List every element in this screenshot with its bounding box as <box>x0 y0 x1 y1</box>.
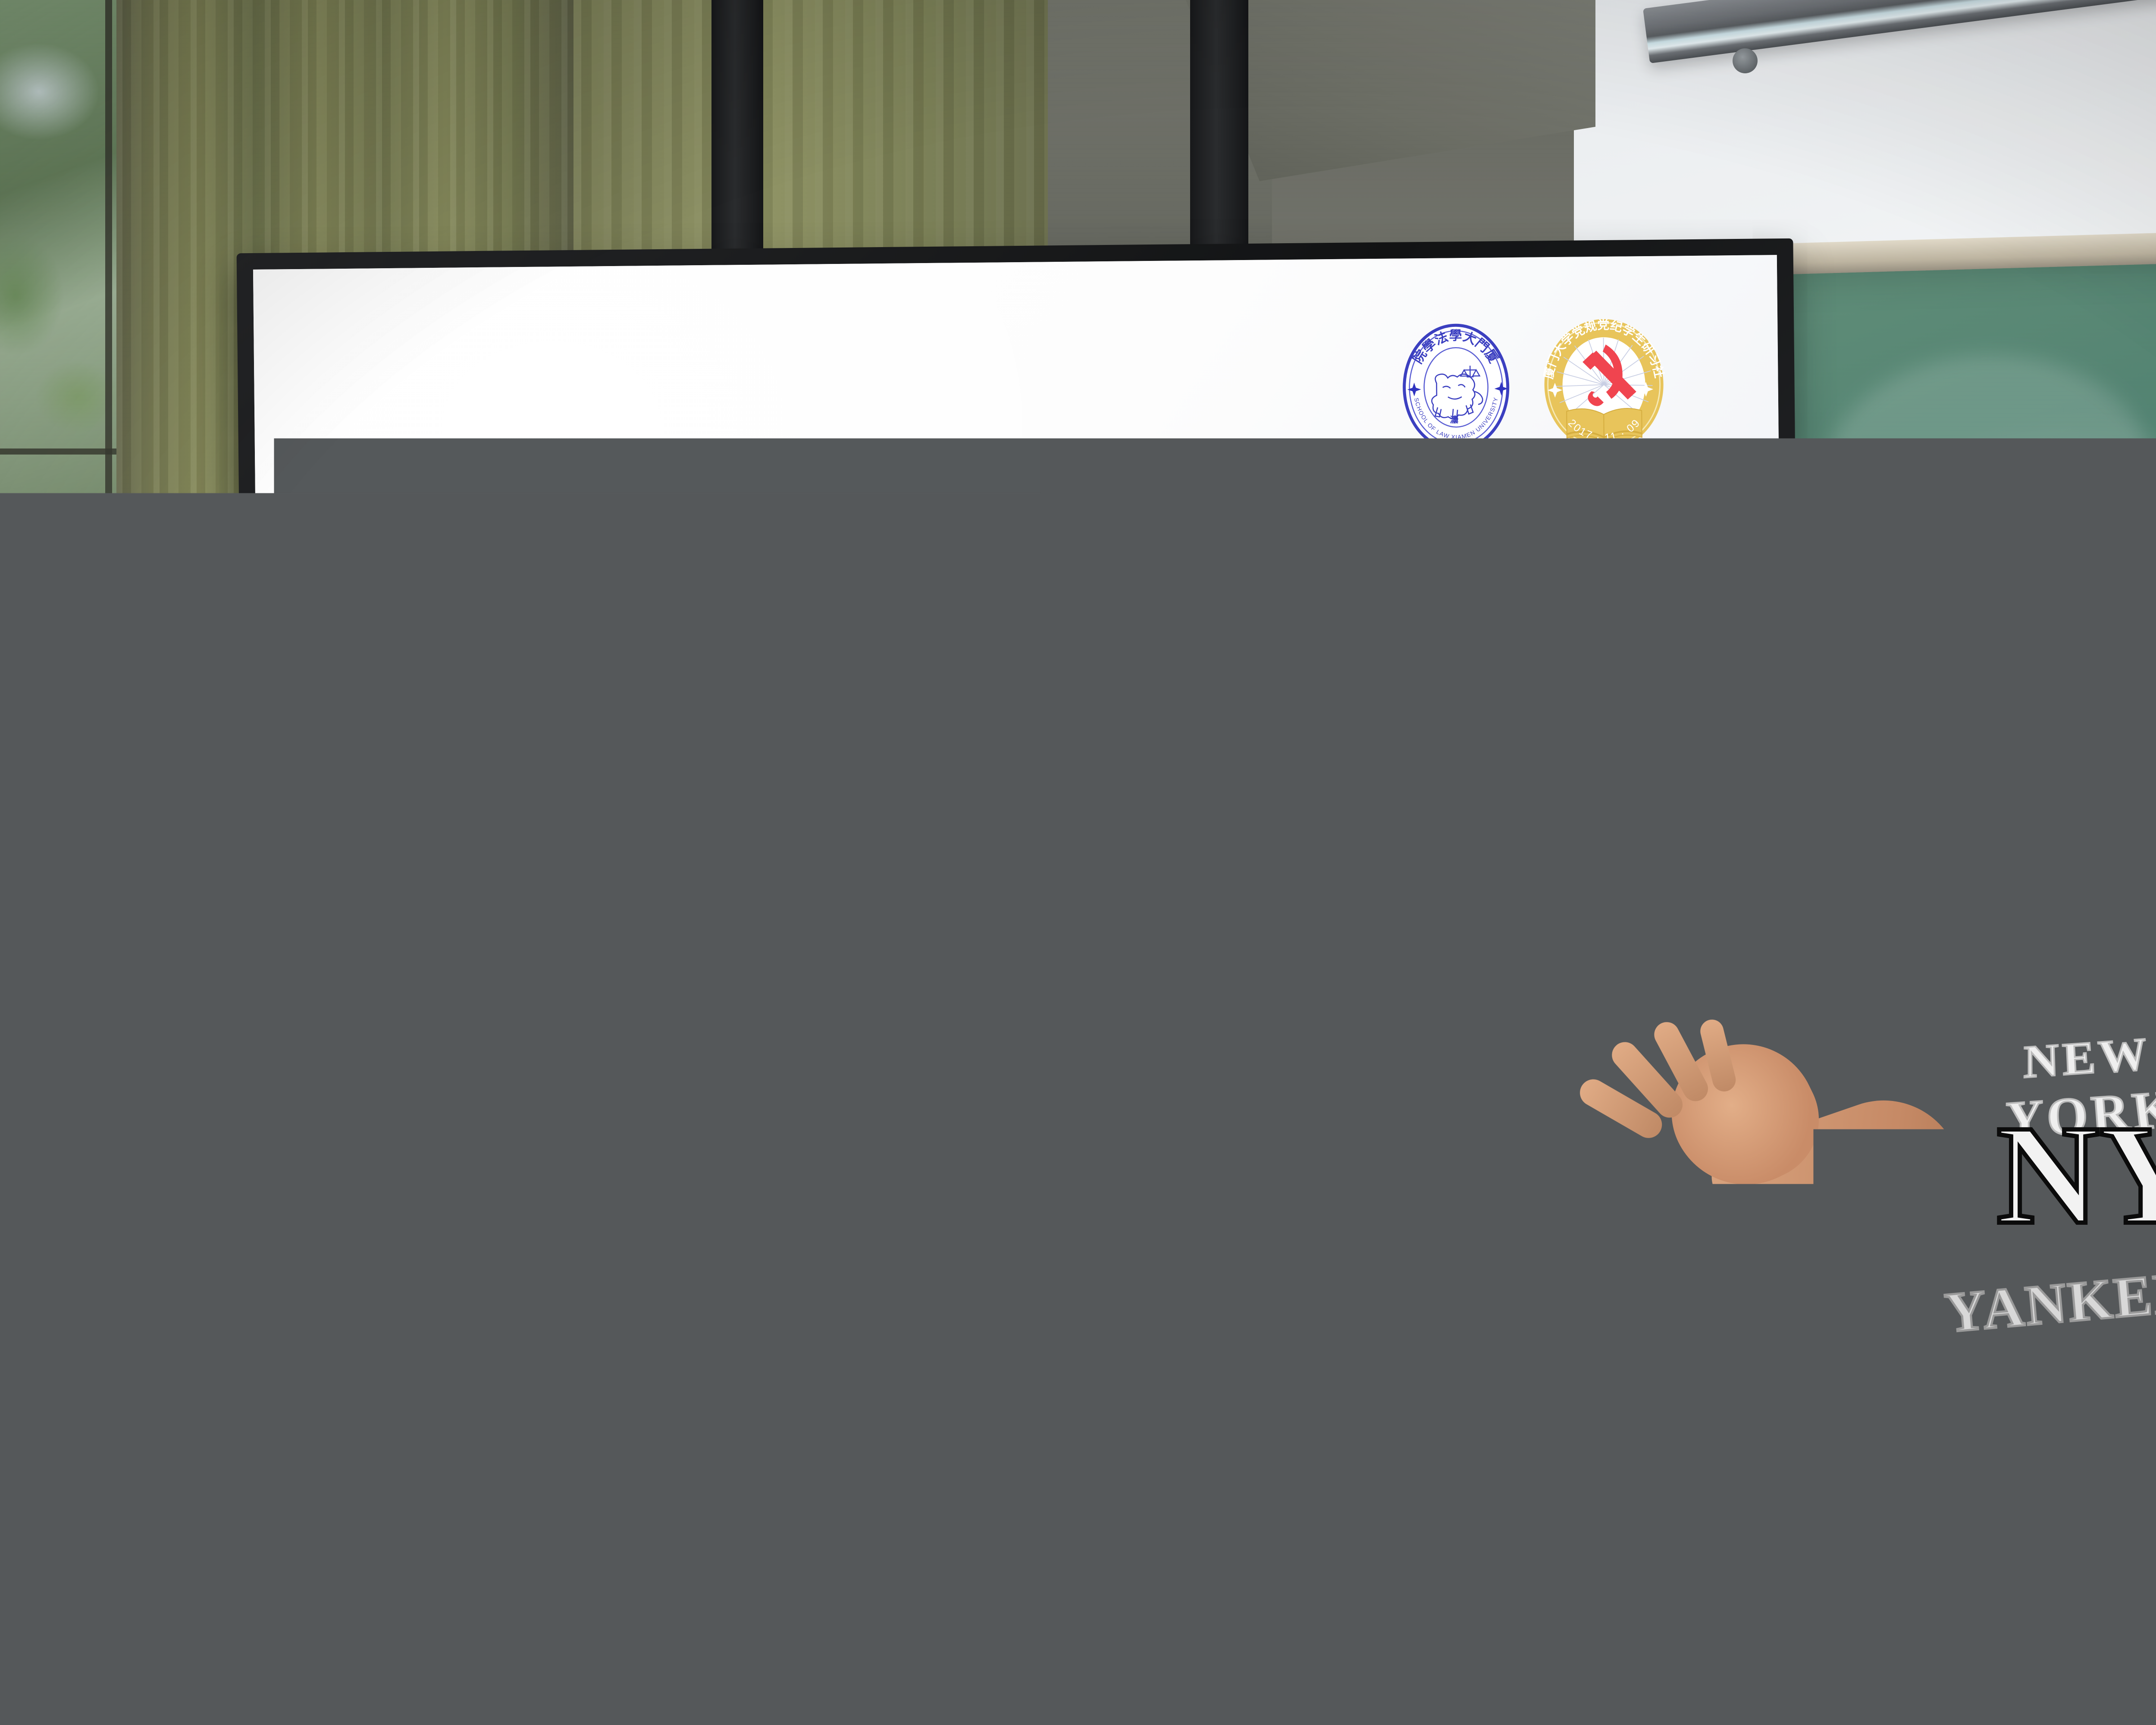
window-mullion-horizontal <box>0 448 129 455</box>
lectern-name-panel: 厦門大學法学院 School of L <box>1227 1574 1658 1725</box>
window-sill <box>0 496 129 548</box>
glasses-icon <box>1964 802 2156 867</box>
shirt-ny-logo: NY <box>1996 1091 2139 1272</box>
lectern-speaker-grille-left <box>1168 1466 1199 1716</box>
slide-title-line-1: 六、法学院团委副书记、研习社指导 <box>360 680 1544 926</box>
lectern-faculty-name: 法学院 <box>1489 1670 1620 1724</box>
lectern-speaker-grille-right <box>1718 1537 1848 1719</box>
window-mullion-vertical <box>105 0 112 509</box>
red-banner: 法灋灋法灋法灋灋法灋法灋法灋法灋灋法灋法灋法灋法灋法灋灋法灋法灋法灋法灋灋法灋法… <box>260 981 1786 1272</box>
window-lower-louvers <box>0 548 129 617</box>
presentation-slide: 院學法學大門厦 SCHOOL OF LAW XIAMEN UNIVERSITY <box>253 255 1786 1272</box>
rear-desk-top <box>2001 1479 2156 1578</box>
lectern-left-column <box>1143 1453 1227 1725</box>
classroom-photo-scene: 院學法學大門厦 SCHOOL OF LAW XIAMEN UNIVERSITY <box>0 0 2156 1725</box>
party-emblem-pin-icon <box>2152 990 2156 1015</box>
light-mount-bracket <box>1733 48 1758 73</box>
lectern: 厦門大學法学院 School of L <box>1143 1419 1884 1725</box>
tv-screen: 院學法學大門厦 SCHOOL OF LAW XIAMEN UNIVERSITY <box>253 255 1786 1272</box>
svg-text:灋: 灋 <box>1450 414 1458 425</box>
television-display[interactable]: 院學法學大門厦 SCHOOL OF LAW XIAMEN UNIVERSITY <box>237 238 1803 1289</box>
party-study-society-seal: 厦门大学党规党纪学生研习社 2017 · 11 · 09 <box>1541 317 1667 454</box>
audience-hair-highlight <box>750 1406 849 1471</box>
xiamen-law-school-seal: 院學法學大門厦 SCHOOL OF LAW XIAMEN UNIVERSITY <box>1401 322 1512 452</box>
